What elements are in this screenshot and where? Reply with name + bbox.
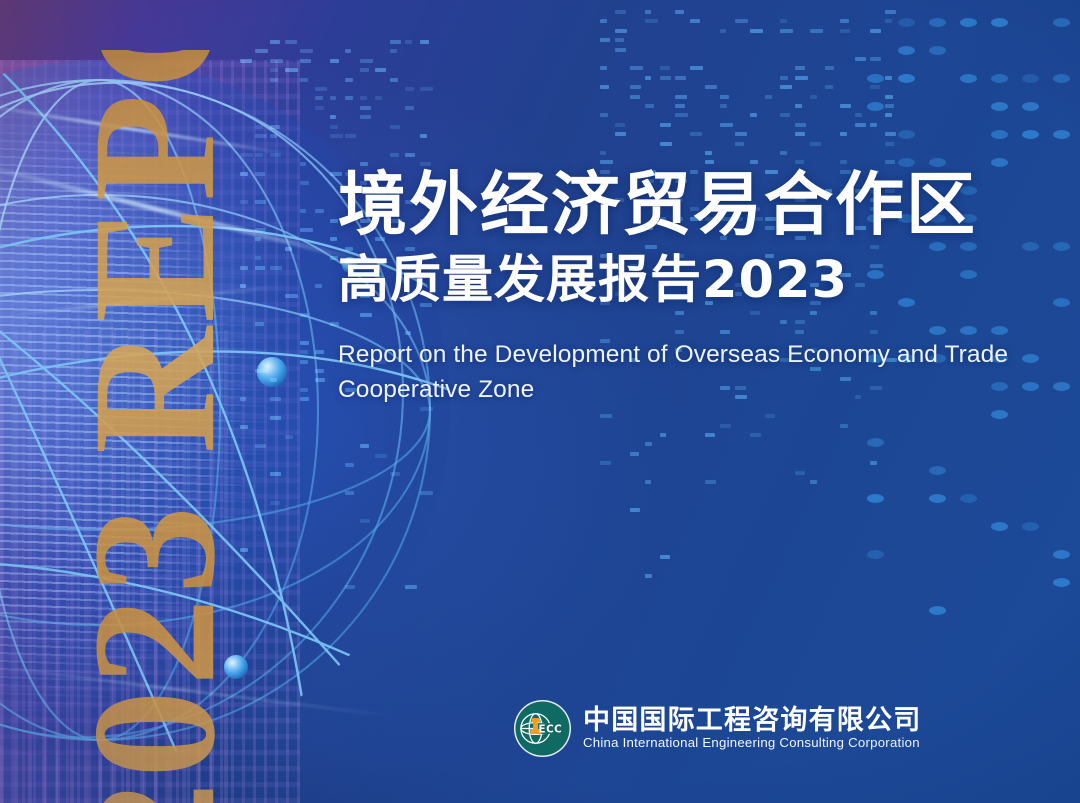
report-cover: 2023 REPORT 境外经济贸易合作区 高质量发展报告2023 Report… [0,0,1080,803]
page-title-cn-line1: 境外经济贸易合作区 [338,168,1058,243]
side-year-word: 2023 REPORT [67,50,243,803]
organization-name-en: China International Engineering Consulti… [583,736,921,751]
organization-name-cn: 中国国际工程咨询有限公司 [583,706,921,735]
page-subtitle-en: Report on the Development of Overseas Ec… [338,338,1028,408]
svg-text:ECC: ECC [539,723,563,735]
page-title-cn-line2: 高质量发展报告2023 [338,249,1058,313]
organization-logo-lockup: ECC 中国国际工程咨询有限公司 China International Eng… [513,699,921,758]
title-block: 境外经济贸易合作区 高质量发展报告2023 Report on the Deve… [338,168,1058,408]
ecc-logo-icon: ECC [513,699,572,758]
